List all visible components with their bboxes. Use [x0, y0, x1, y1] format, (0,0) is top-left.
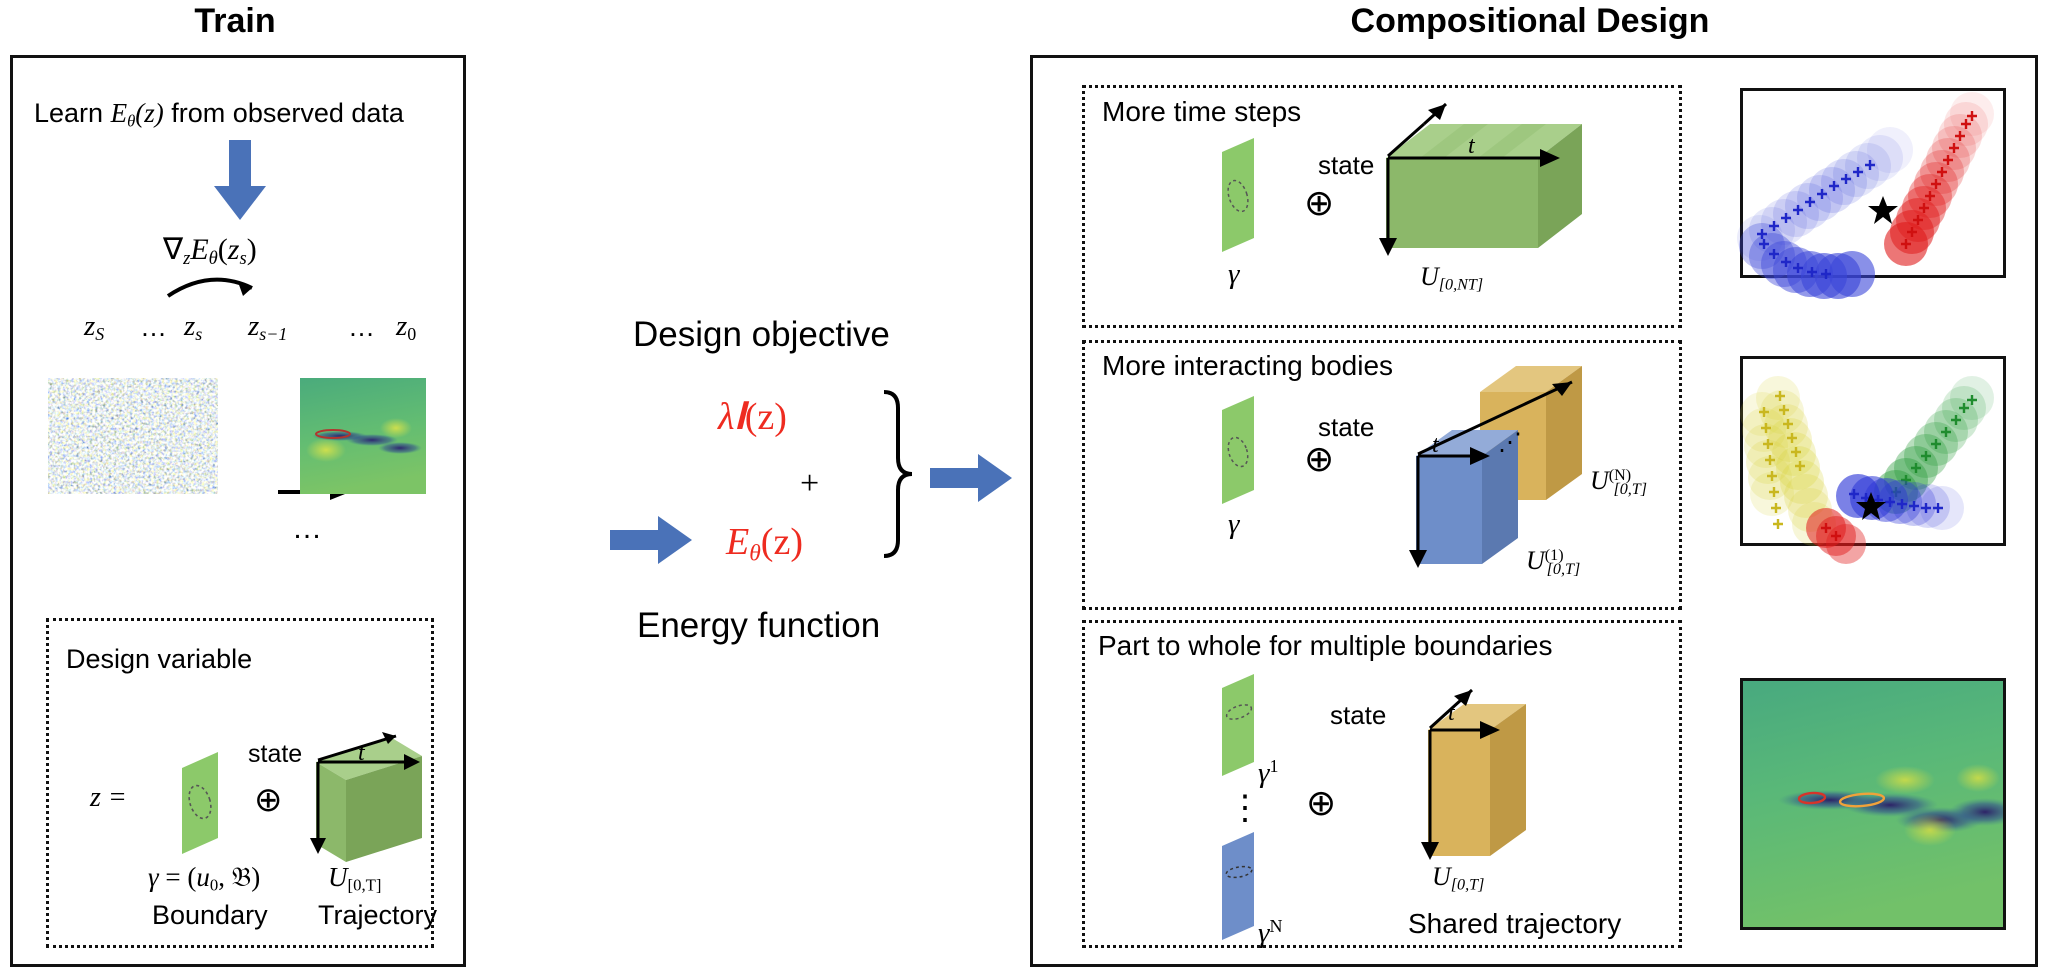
block-2-t-label: t [1432, 432, 1439, 459]
denoised-field-image [300, 378, 426, 494]
chain-ellipsis-1: … [140, 312, 167, 343]
block-2-cube-label-front: U(1)[0,T] [1526, 548, 1580, 578]
block-3-caption: Shared trajectory [1408, 908, 1621, 940]
noise-latent-image [48, 378, 218, 494]
train-panel-title: Train [10, 2, 460, 41]
block-3-gamma-first: γ1 [1258, 756, 1278, 790]
design-variable-state-label: state [248, 740, 302, 769]
block-3-title: Part to whole for multiple boundaries [1098, 630, 1552, 662]
block-2-oplus: ⊕ [1304, 438, 1334, 480]
train-headline: Learn Eθ(z) from observed data [34, 98, 404, 132]
chain-z-s: zs [184, 310, 202, 345]
block-3-gamma-last: γN [1258, 916, 1282, 950]
chain-z-s-minus-1: zs−1 [248, 310, 287, 345]
chain-ellipsis-2: … [348, 312, 375, 343]
block-2-cube-ellipsis: ⋰ [1498, 428, 1522, 457]
gradient-expression: ∇zEθ(zs) [163, 232, 257, 270]
curly-brace-icon [884, 392, 912, 556]
block-1-cube-label: U[0,NT] [1420, 262, 1483, 295]
block-2-cube-label-back: U(N)[0,T] [1590, 468, 1647, 498]
design-variable-assign: z = [90, 782, 127, 814]
block-1-gamma: γ [1228, 258, 1239, 291]
compositional-panel-title: Compositional Design [1030, 2, 2030, 41]
design-variable-t-label: t [358, 740, 365, 767]
plus-sign: + [800, 465, 819, 503]
chain-z-S: zS [84, 310, 104, 345]
arrow-into-objective-icon [610, 516, 692, 564]
train-headline-lead: Learn [34, 98, 111, 128]
block-3-oplus: ⊕ [1306, 782, 1336, 824]
block-3-vertical-ellipsis: ⋮ [1228, 788, 1262, 828]
result-panel-two-body [1740, 88, 2006, 278]
energy-function-label: Energy function [637, 606, 880, 646]
design-variable-oplus: ⊕ [254, 780, 283, 820]
trajectory-formula: U[0,T] [328, 862, 381, 896]
train-headline-tail: from observed data [164, 98, 404, 128]
train-mid-ellipsis: … [292, 512, 324, 546]
block-3-cube-label: U[0,T] [1432, 862, 1484, 895]
boundary-formula: γ = (u0, 𝔅) [148, 862, 260, 896]
block-2-gamma: γ [1228, 508, 1239, 541]
block-3-t-label: t [1448, 700, 1455, 727]
result-panel-four-body [1740, 356, 2006, 546]
arrow-to-compositional-icon [930, 454, 1012, 502]
block-1-state-label: state [1318, 150, 1374, 181]
block-1-title: More time steps [1102, 96, 1301, 128]
train-headline-energy-symbol: Eθ(z) [111, 98, 164, 128]
chain-z-0: z0 [396, 310, 416, 345]
trajectory-caption: Trajectory [318, 900, 437, 931]
result-panel-fluid-field [1740, 678, 2006, 930]
block-3-state-label: state [1330, 700, 1386, 731]
energy-term: Eθ(z) [726, 520, 803, 568]
block-1-t-label: t [1468, 133, 1475, 160]
boundary-caption: Boundary [152, 900, 268, 931]
design-objective-label: Design objective [633, 315, 890, 355]
objective-term: λ𝐥(z) [718, 395, 787, 439]
block-part-to-whole [1082, 620, 1682, 948]
design-variable-title: Design variable [66, 644, 252, 675]
block-1-oplus: ⊕ [1304, 182, 1334, 224]
block-2-title: More interacting bodies [1102, 350, 1393, 382]
